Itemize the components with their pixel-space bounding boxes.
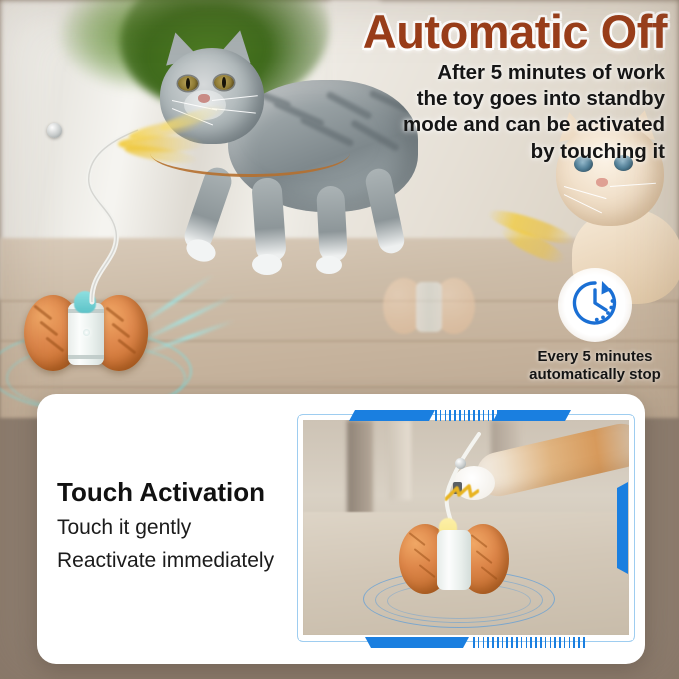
frame-accent-bar-right xyxy=(617,482,628,574)
cat-nose xyxy=(596,178,608,187)
feature-panel-title: Touch Activation xyxy=(57,477,265,508)
clock-badge xyxy=(558,268,632,342)
frame-ticks-bottom xyxy=(473,637,585,648)
page-title: Automatic Off xyxy=(363,8,667,55)
frame-corner-bottom-right xyxy=(609,616,633,640)
cat-eye-left xyxy=(178,76,198,91)
frame-accent-bar-bottom xyxy=(365,637,469,648)
toy-core xyxy=(416,282,442,332)
headline-description-line: mode and can be activated xyxy=(245,112,665,138)
cat-nose xyxy=(198,94,210,103)
toy-bell xyxy=(47,123,62,138)
feature-panel-line2: Reactivate immediately xyxy=(57,549,274,573)
frame-corner-top-left xyxy=(299,416,323,440)
cat-toy-product xyxy=(24,295,148,373)
cat-hind-leg-left xyxy=(316,185,348,262)
clock-caption-line2: automatically stop xyxy=(520,366,670,384)
headline-description: After 5 minutes of work the toy goes int… xyxy=(245,60,665,165)
frame-ticks-top xyxy=(435,410,547,421)
frame-accent-bar-top-left xyxy=(349,410,435,421)
headline-description-line: After 5 minutes of work xyxy=(245,60,665,86)
toy-led-indicator xyxy=(83,329,90,336)
headline-description-line: the toy goes into standby xyxy=(245,86,665,112)
clock-arrow-icon xyxy=(569,277,621,334)
headline-description-line: by touching it xyxy=(245,139,665,165)
clock-caption-line1: Every 5 minutes xyxy=(520,348,670,366)
toy-feather xyxy=(118,118,236,170)
frame-corner-bottom-left xyxy=(299,616,323,640)
cat-eye-right xyxy=(214,75,234,90)
cat-paw xyxy=(252,254,282,275)
cat-front-leg-right xyxy=(251,177,287,263)
product-marketing-image: Automatic Off After 5 minutes of work th… xyxy=(0,0,679,679)
inset-photo-frame xyxy=(297,406,645,654)
frame-outline xyxy=(297,414,635,642)
feature-panel-line1: Touch it gently xyxy=(57,516,191,540)
frame-corner-top-right xyxy=(609,416,633,440)
cat-paw xyxy=(316,256,342,274)
clock-badge-caption: Every 5 minutes automatically stop xyxy=(520,348,670,385)
